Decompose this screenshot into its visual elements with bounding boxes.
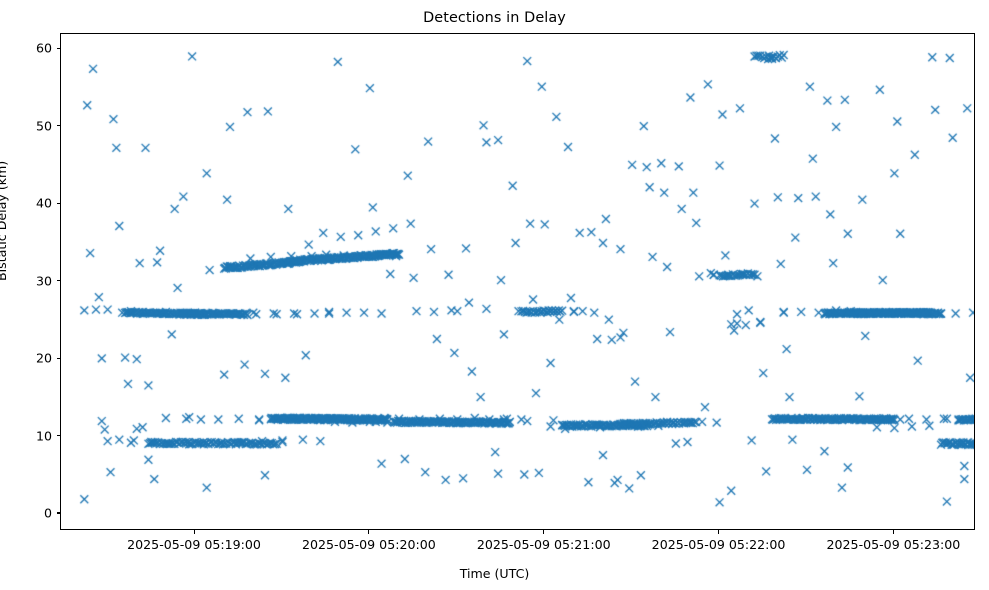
x-tick-label: 2025-05-09 05:22:00 [652,537,786,552]
x-tick-label: 2025-05-09 05:20:00 [302,537,436,552]
y-axis-label: Bistatic Delay (km) [0,161,9,281]
y-tick-label: 20 [0,351,52,366]
y-tick-label: 10 [0,428,52,443]
y-tick-mark [57,358,61,359]
x-axis-label: Time (UTC) [0,566,989,581]
y-tick-mark [57,280,61,281]
y-tick-label: 50 [0,118,52,133]
x-tick-mark [368,530,369,534]
x-tick-mark [893,530,894,534]
y-tick-mark [57,125,61,126]
x-tick-mark [543,530,544,534]
x-tick-label: 2025-05-09 05:23:00 [827,537,961,552]
x-tick-label: 2025-05-09 05:21:00 [477,537,611,552]
x-tick-mark [718,530,719,534]
y-tick-mark [57,435,61,436]
y-tick-mark [57,512,61,513]
x-tick-mark [194,530,195,534]
y-tick-label: 60 [0,41,52,56]
x-tick-label: 2025-05-09 05:19:00 [127,537,261,552]
scatter-plot-canvas [61,34,975,530]
y-tick-mark [57,203,61,204]
figure: Detections in Delay 0102030405060 2025-0… [0,0,989,590]
y-tick-label: 0 [0,505,52,520]
page-title: Detections in Delay [0,10,989,26]
plot-area [60,33,975,530]
y-tick-mark [57,48,61,49]
